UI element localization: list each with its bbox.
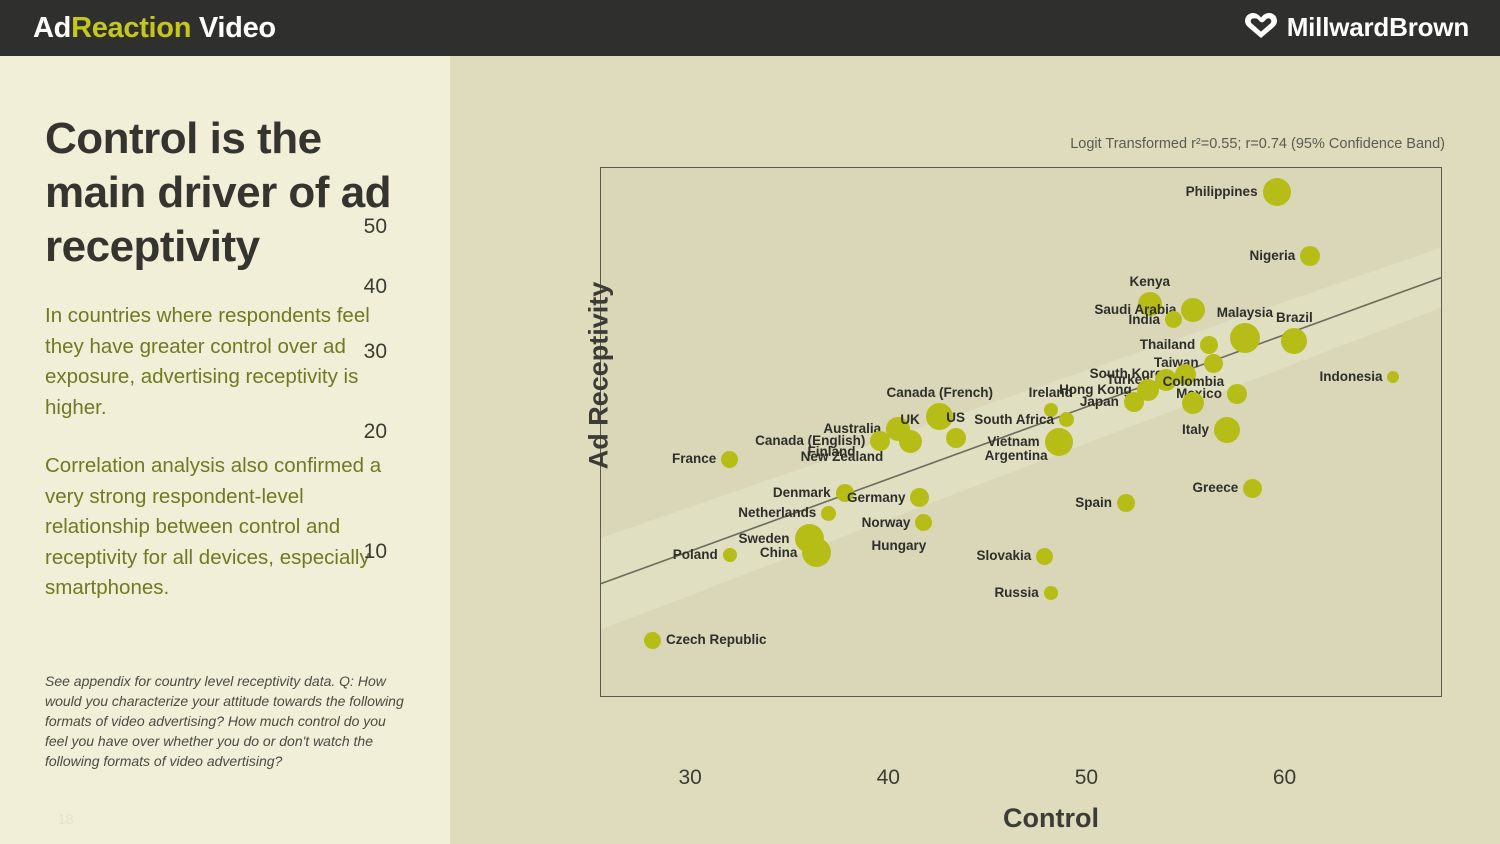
deck-title: AdReaction Video bbox=[33, 12, 276, 45]
point-label-poland: Poland bbox=[673, 548, 718, 562]
bubble-colombia[interactable] bbox=[1182, 392, 1204, 414]
bubble-greece[interactable] bbox=[1243, 479, 1262, 498]
source-footnote: See appendix for country level receptivi… bbox=[45, 671, 405, 771]
left-text-panel: Control is the main driver of ad recepti… bbox=[0, 56, 450, 844]
point-label-brazil: Brazil bbox=[1276, 311, 1313, 325]
bubble-indonesia[interactable] bbox=[1387, 371, 1399, 383]
bubble-philippines[interactable] bbox=[1263, 178, 1291, 206]
chart-statistics-note: Logit Transformed r²=0.55; r=0.74 (95% C… bbox=[1005, 136, 1445, 152]
y-tick-40: 40 bbox=[327, 275, 387, 299]
bubble-japan[interactable] bbox=[1124, 392, 1144, 412]
point-label-spain: Spain bbox=[1075, 496, 1112, 510]
y-tick-20: 20 bbox=[327, 420, 387, 444]
page-title: Control is the main driver of ad recepti… bbox=[45, 112, 415, 274]
brand-suffix: Video bbox=[191, 12, 276, 44]
bubble-uk[interactable] bbox=[899, 430, 922, 453]
x-axis-title: Control bbox=[931, 803, 1171, 834]
point-label-ireland: Ireland bbox=[1029, 386, 1073, 400]
point-label-colombia: Colombia bbox=[1163, 375, 1225, 389]
bubble-nigeria[interactable] bbox=[1300, 246, 1320, 266]
company-logo: MillwardBrown bbox=[1244, 11, 1469, 44]
point-label-netherlands: Netherlands bbox=[738, 506, 816, 520]
point-label-finland: Finland bbox=[807, 445, 855, 459]
point-label-china: China bbox=[760, 546, 798, 560]
bubble-taiwan[interactable] bbox=[1204, 354, 1223, 373]
point-label-kenya: Kenya bbox=[1130, 275, 1171, 289]
point-label-czech-republic: Czech Republic bbox=[666, 633, 767, 647]
x-tick-30: 30 bbox=[660, 766, 720, 790]
point-label-sweden: Sweden bbox=[739, 532, 790, 546]
brand-accent: Reaction bbox=[71, 12, 191, 44]
point-label-germany: Germany bbox=[847, 491, 906, 505]
page-number: 18 bbox=[58, 811, 74, 827]
point-label-russia: Russia bbox=[994, 586, 1038, 600]
point-label-norway: Norway bbox=[862, 516, 911, 530]
top-bar: AdReaction Video MillwardBrown bbox=[0, 0, 1500, 56]
bubble-france[interactable] bbox=[721, 451, 738, 468]
x-tick-60: 60 bbox=[1255, 766, 1315, 790]
point-label-south-africa: South Africa bbox=[974, 413, 1054, 427]
point-label-france: France bbox=[672, 452, 716, 466]
point-label-canada-french-: Canada (French) bbox=[887, 386, 994, 400]
y-tick-30: 30 bbox=[327, 340, 387, 364]
millward-brown-heart-icon bbox=[1244, 11, 1278, 44]
bubble-spain[interactable] bbox=[1117, 494, 1135, 512]
point-label-argentina: Argentina bbox=[985, 449, 1048, 463]
bubble-czech-republic[interactable] bbox=[644, 632, 661, 649]
point-label-hungary: Hungary bbox=[872, 539, 927, 553]
y-axis-title: Ad Receptivity bbox=[584, 256, 615, 496]
point-label-slovakia: Slovakia bbox=[976, 549, 1031, 563]
y-tick-10: 10 bbox=[327, 540, 387, 564]
point-label-denmark: Denmark bbox=[773, 486, 831, 500]
bubble-south-africa[interactable] bbox=[1059, 412, 1074, 427]
body-paragraph-2: Correlation analysis also confirmed a ve… bbox=[45, 451, 405, 604]
slide-root: AdReaction Video MillwardBrown Control i… bbox=[0, 0, 1500, 844]
point-label-india: India bbox=[1129, 313, 1161, 327]
bubble-netherlands[interactable] bbox=[821, 506, 836, 521]
point-label-uk: UK bbox=[900, 413, 920, 427]
regression-line bbox=[601, 278, 1441, 584]
scatter-plot-area: PhilippinesNigeriaKenyaSaudi ArabiaIndia… bbox=[600, 167, 1442, 697]
x-tick-40: 40 bbox=[858, 766, 918, 790]
bubble-poland[interactable] bbox=[723, 548, 737, 562]
bubble-malaysia[interactable] bbox=[1230, 323, 1260, 353]
point-label-nigeria: Nigeria bbox=[1249, 249, 1295, 263]
point-label-malaysia: Malaysia bbox=[1217, 306, 1273, 320]
bubble-slovakia[interactable] bbox=[1036, 548, 1053, 565]
point-label-japan: Japan bbox=[1080, 395, 1119, 409]
point-label-us: US bbox=[946, 411, 965, 425]
point-label-indonesia: Indonesia bbox=[1319, 370, 1382, 384]
point-label-greece: Greece bbox=[1193, 481, 1239, 495]
company-name: MillwardBrown bbox=[1287, 12, 1469, 43]
point-label-italy: Italy bbox=[1182, 423, 1209, 437]
bubble-us[interactable] bbox=[946, 428, 966, 448]
point-label-philippines: Philippines bbox=[1186, 185, 1258, 199]
point-label-thailand: Thailand bbox=[1140, 338, 1196, 352]
bubble-vietnam[interactable] bbox=[1045, 428, 1073, 456]
brand-prefix: Ad bbox=[33, 12, 71, 44]
y-tick-50: 50 bbox=[327, 215, 387, 239]
chart-panel: Logit Transformed r²=0.55; r=0.74 (95% C… bbox=[450, 56, 1500, 844]
bubble-india[interactable] bbox=[1165, 311, 1182, 328]
x-tick-50: 50 bbox=[1056, 766, 1116, 790]
bubble-russia[interactable] bbox=[1044, 586, 1058, 600]
